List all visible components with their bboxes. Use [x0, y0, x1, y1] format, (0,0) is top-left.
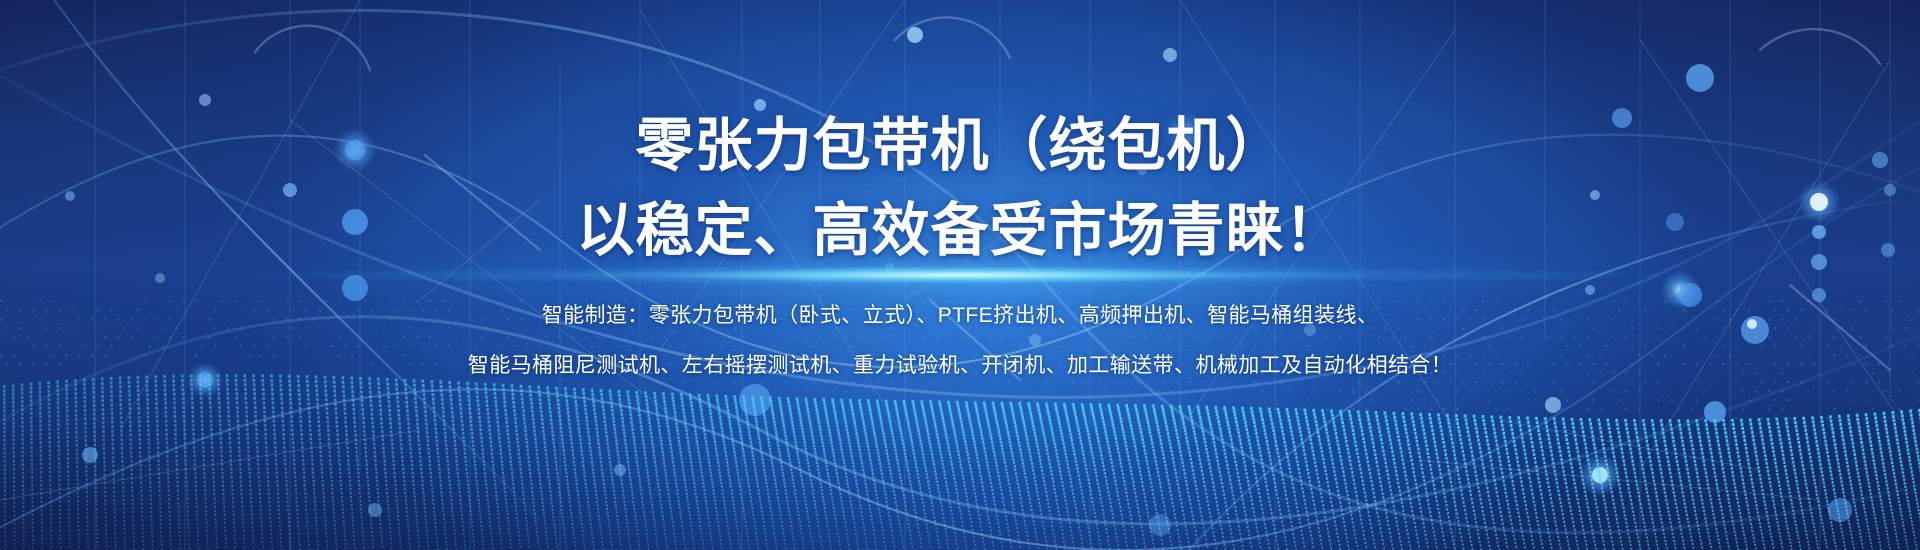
headline-line-1: 零张力包带机（绕包机） — [635, 113, 1284, 178]
banner-content: 零张力包带机（绕包机） 以稳定、高效备受市场青睐！ 智能制造：零张力包带机（卧式… — [0, 0, 1920, 550]
page-title: 零张力包带机（绕包机） 以稳定、高效备受市场青睐！ — [576, 104, 1343, 273]
promo-banner: 零张力包带机（绕包机） 以稳定、高效备受市场青睐！ 智能制造：零张力包带机（卧式… — [0, 0, 1920, 550]
subtitle-line-2: 智能马桶阻尼测试机、左右摇摆测试机、重力试验机、开闭机、加工输送带、机械加工及自… — [468, 341, 1452, 390]
subtitle-block: 智能制造：零张力包带机（卧式、立式）、PTFE挤出机、高频押出机、智能马桶组装线… — [468, 291, 1452, 390]
subtitle-line-1: 智能制造：零张力包带机（卧式、立式）、PTFE挤出机、高频押出机、智能马桶组装线… — [468, 291, 1452, 340]
headline-line-2: 以稳定、高效备受市场青睐！ — [576, 189, 1343, 274]
